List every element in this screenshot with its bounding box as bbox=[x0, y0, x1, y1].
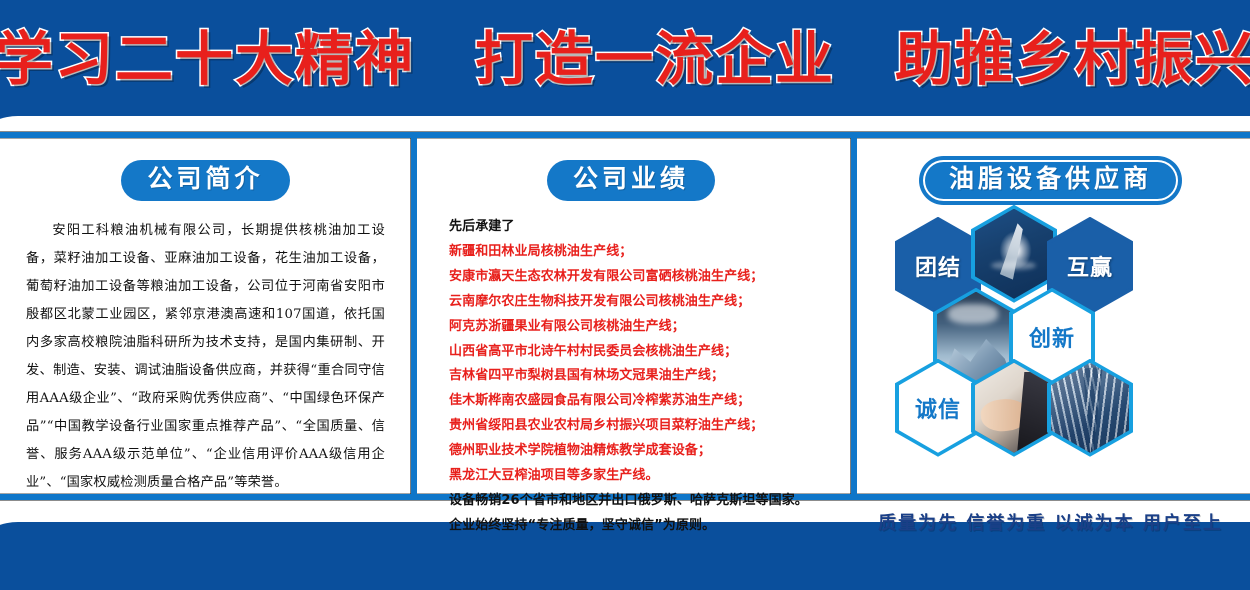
project-item: 阿克苏浙疆果业有限公司核桃油生产线； bbox=[449, 315, 851, 340]
panel-company-performance: 公司业绩 先后承建了 新疆和田林业局核桃油生产线； 安康市瀛天生态农林开发有限公… bbox=[411, 138, 851, 494]
right-badge-row: 油脂设备供应商 bbox=[851, 138, 1250, 201]
handshake-icon bbox=[975, 363, 1053, 453]
performance-footnote: 设备畅销26个省市和地区并出口俄罗斯、哈萨克斯坦等国家。 bbox=[449, 489, 851, 514]
performance-list: 先后承建了 新疆和田林业局核桃油生产线； 安康市瀛天生态农林开发有限公司富硒核桃… bbox=[449, 215, 851, 539]
hex-photo-inner bbox=[975, 209, 1053, 299]
badge-oil-equipment-supplier: 油脂设备供应商 bbox=[923, 160, 1178, 201]
project-item: 安康市瀛天生态农林开发有限公司富硒核桃油生产线； bbox=[449, 265, 851, 290]
performance-lead: 先后承建了 bbox=[449, 219, 515, 234]
hex-aircraft-carrier-photo bbox=[971, 205, 1057, 303]
panel-supplier-values: 油脂设备供应商 团结 互赢 bbox=[851, 138, 1250, 494]
company-intro-text: 安阳工科粮油机械有限公司，长期提供核桃油加工设备，菜籽油加工设备、亚麻油加工设备… bbox=[26, 217, 385, 497]
project-item: 佳木斯桦南农盛园食品有限公司冷榨紫苏油生产线； bbox=[449, 389, 851, 414]
hex-photo-inner bbox=[1051, 363, 1129, 453]
project-item: 德州职业技术学院植物油精炼教学成套设备； bbox=[449, 439, 851, 464]
aircraft-carrier-icon bbox=[975, 209, 1053, 299]
hex-unity-label: 团结 bbox=[915, 250, 961, 282]
left-badge-row: 公司简介 bbox=[0, 138, 411, 201]
project-item: 山西省高平市北诗午村村民委员会核桃油生产线； bbox=[449, 340, 851, 365]
skyscraper-icon bbox=[1051, 363, 1129, 453]
badge-company-intro: 公司简介 bbox=[121, 160, 289, 201]
badge-company-performance: 公司业绩 bbox=[547, 160, 715, 201]
hex-photo-inner bbox=[975, 363, 1053, 453]
poster-stage: 学习二十大精神 打造一流企业 助推乡村振兴 公司简介 安阳工科粮油机械有限公司，… bbox=[0, 0, 1250, 590]
project-item: 贵州省绥阳县农业农村局乡村振兴项目菜籽油生产线； bbox=[449, 414, 851, 439]
mid-badge-row: 公司业绩 bbox=[411, 138, 851, 201]
panel-columns: 公司简介 安阳工科粮油机械有限公司，长期提供核桃油加工设备，菜籽油加工设备、亚麻… bbox=[0, 138, 1250, 494]
hex-integrity-label: 诚信 bbox=[915, 392, 961, 424]
project-item: 新疆和田林业局核桃油生产线； bbox=[449, 240, 851, 265]
panel-company-intro: 公司简介 安阳工科粮油机械有限公司，长期提供核桃油加工设备，菜籽油加工设备、亚麻… bbox=[0, 138, 411, 494]
values-tagline: 质量为先 信誉为重 以诚为本 用户至上 bbox=[851, 509, 1250, 535]
page-title: 学习二十大精神 打造一流企业 助推乡村振兴 bbox=[0, 12, 1250, 96]
hexagon-cluster: 团结 互赢 创新 bbox=[851, 209, 1250, 459]
project-item: 云南摩尔农庄生物科技开发有限公司核桃油生产线； bbox=[449, 290, 851, 315]
project-item: 黑龙江大豆榨油项目等多家生产线。 bbox=[449, 464, 851, 489]
hex-mutual-win-label: 互赢 bbox=[1067, 250, 1113, 282]
column-divider-right bbox=[851, 138, 857, 494]
column-divider-left bbox=[411, 138, 417, 494]
header-band: 学习二十大精神 打造一流企业 助推乡村振兴 bbox=[0, 0, 1250, 108]
hex-innovation-label: 创新 bbox=[1029, 321, 1075, 353]
project-item: 吉林省四平市梨树县国有林场文冠果油生产线； bbox=[449, 364, 851, 389]
performance-footnote: 企业始终坚持“专注质量，坚守诚信”为原则。 bbox=[449, 514, 851, 539]
